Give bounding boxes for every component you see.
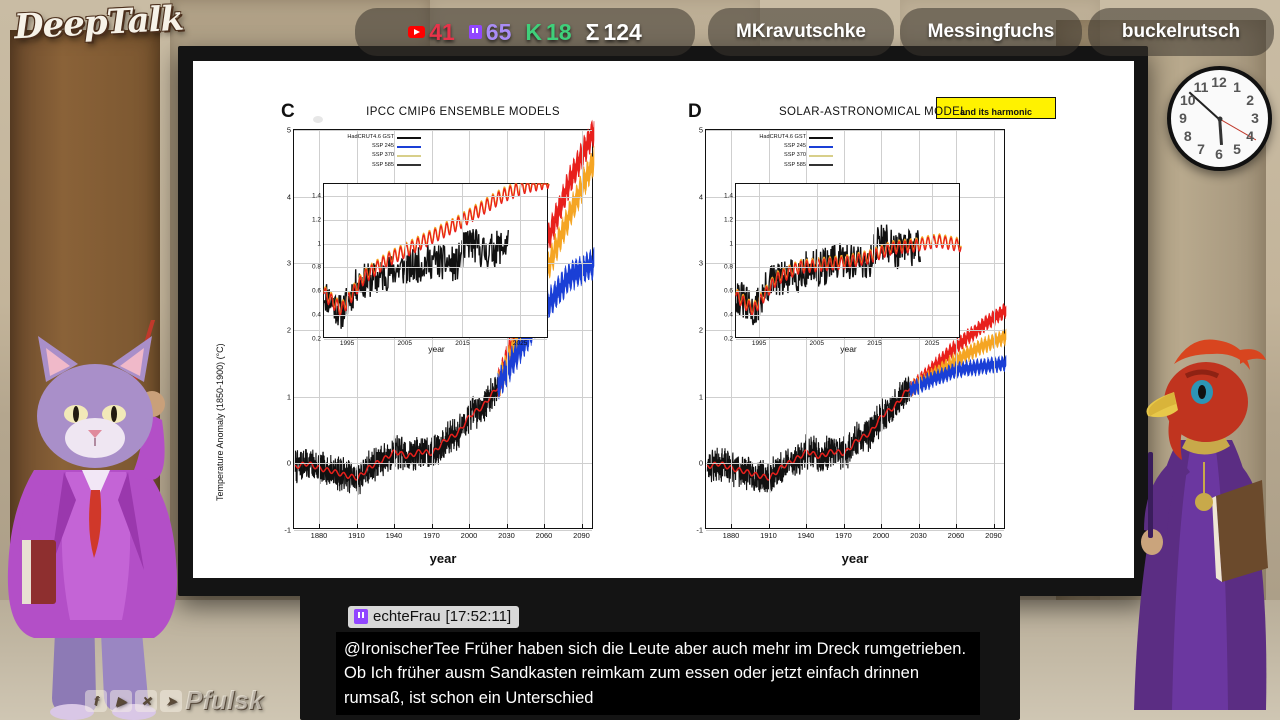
legend-swatch <box>809 155 833 157</box>
gridline <box>582 130 583 528</box>
projector-screen-frame: and its harmonic C IPCC CMIP6 ENSEMBLE M… <box>178 46 1148 596</box>
inset-gridline <box>324 339 547 340</box>
clock-numeral: 8 <box>1184 128 1192 144</box>
twitch-icon <box>469 25 482 39</box>
youtube-icon: ▶ <box>110 690 132 712</box>
twitch-badge-icon <box>354 609 368 624</box>
y-tick-label: 4 <box>699 192 706 201</box>
inset-gridline <box>736 267 959 268</box>
inset-gridline <box>736 220 959 221</box>
inset-y-tick-label: 0.8 <box>724 264 736 271</box>
y-tick-label: 4 <box>287 192 294 201</box>
chat-overlay: echteFrau [17:52:11] @IronischerTee Früh… <box>300 592 1020 720</box>
chat-timestamp: [17:52:11] <box>446 608 512 625</box>
legend-swatch <box>397 155 421 157</box>
inset-y-tick-label: 0.8 <box>312 264 324 271</box>
gridline <box>294 397 592 398</box>
inset-x-tick-label: 2005 <box>810 340 824 347</box>
axis-tick <box>432 524 433 528</box>
bird-mascot <box>1120 330 1280 720</box>
gridline <box>706 530 1004 531</box>
viewer-counters: 4165K18Σ124 <box>355 8 695 56</box>
inset-gridline <box>347 184 348 337</box>
inset-gridline <box>462 184 463 337</box>
x-tick-label: 1940 <box>798 531 815 540</box>
inset-gridline <box>736 315 959 316</box>
x-tick-label: 2000 <box>461 531 478 540</box>
legend-item: SSP 245 <box>713 142 833 151</box>
legend-item: SSP 585 <box>713 161 833 170</box>
inset-y-tick-label: 0.4 <box>724 312 736 319</box>
inset-gridline <box>405 184 406 337</box>
legend-label: HadCRUT4.6 GST <box>759 133 806 142</box>
clock-numeral: 6 <box>1215 146 1223 162</box>
x-tick-label: 1970 <box>835 531 852 540</box>
x-tick-label: 1910 <box>760 531 777 540</box>
gridline <box>706 463 1004 464</box>
legend-swatch <box>809 164 833 166</box>
gridline <box>706 397 1004 398</box>
inset-x-tick-label: 1995 <box>752 340 766 347</box>
wall-clock: 121234567891011 <box>1167 66 1272 171</box>
y-tick-label: 2 <box>287 326 294 335</box>
inset-y-tick-label: 1.4 <box>312 192 324 199</box>
axis-tick <box>544 524 545 528</box>
inset-x-tick-label: 2025 <box>925 340 939 347</box>
y-tick-label: 1 <box>699 392 706 401</box>
inset-x-tick-label: 2015 <box>867 340 881 347</box>
clock-center <box>1217 116 1222 121</box>
panel-c-inset: year 19952005201520250.20.40.60.811.21.4 <box>323 183 548 338</box>
legend-item: SSP 370 <box>301 151 421 160</box>
legend-label: SSP 585 <box>784 161 806 170</box>
gridline <box>294 463 592 464</box>
telegram-icon: ➤ <box>160 690 182 712</box>
axis-tick <box>881 524 882 528</box>
inset-gridline <box>759 184 760 337</box>
chart-panel-d: D SOLAR-ASTRONOMICAL MODEL 1880191019401… <box>663 61 1133 581</box>
series-hadcrut <box>295 377 497 495</box>
legend-label: HadCRUT4.6 GST <box>347 133 394 142</box>
counter-total: Σ124 <box>586 19 642 46</box>
projector-screen: and its harmonic C IPCC CMIP6 ENSEMBLE M… <box>193 61 1134 578</box>
viewer-chip-1[interactable]: Messingfuchs <box>900 8 1082 56</box>
inset-y-tick-label: 0.2 <box>724 336 736 343</box>
inset-gridline <box>736 244 959 245</box>
counter-value: 18 <box>546 19 572 46</box>
panel-d-title: SOLAR-ASTRONOMICAL MODEL <box>703 106 1043 118</box>
legend-swatch <box>809 137 833 139</box>
viewer-chip-0[interactable]: MKravutschke <box>708 8 894 56</box>
counter-value: 41 <box>429 19 455 46</box>
y-tick-label: 5 <box>699 126 706 135</box>
legend-item: SSP 370 <box>713 151 833 160</box>
inset-gridline <box>817 184 818 337</box>
clock-hour-hand <box>1218 118 1223 144</box>
x-tick-label: 2090 <box>573 531 590 540</box>
inset-y-tick-label: 0.4 <box>312 312 324 319</box>
x-tick-label: 1880 <box>311 531 328 540</box>
inset-y-tick-label: 1.2 <box>312 216 324 223</box>
inset-y-tick-label: 0.6 <box>312 288 324 295</box>
clock-numeral: 5 <box>1233 141 1241 157</box>
x-tick-label: 2030 <box>910 531 927 540</box>
y-tick-label: 0 <box>287 459 294 468</box>
x-tick-label: 2030 <box>498 531 515 540</box>
counter-twitch: 65 <box>469 19 512 46</box>
clock-numeral: 3 <box>1251 110 1259 126</box>
inset-y-tick-label: 0.6 <box>724 288 736 295</box>
counter-kick: K18 <box>525 19 571 46</box>
axis-tick <box>806 524 807 528</box>
inset-x-tick-label: 2025 <box>513 340 527 347</box>
clock-numeral: 9 <box>1179 110 1187 126</box>
chart-panel-c: C IPCC CMIP6 ENSEMBLE MODELS Temperature… <box>193 61 663 581</box>
axis-tick <box>507 524 508 528</box>
x-icon: ✕ <box>135 690 157 712</box>
x-tick-label: 2060 <box>536 531 553 540</box>
clock-numeral: 2 <box>1246 92 1254 108</box>
cat-mascot <box>0 320 194 720</box>
facebook-icon: f <box>85 690 107 712</box>
axis-tick <box>844 524 845 528</box>
chat-message: @IronischerTee Früher haben sich die Leu… <box>336 632 980 715</box>
inset-gridline <box>324 267 547 268</box>
inset-x-tick-label: 2015 <box>455 340 469 347</box>
legend-swatch <box>397 164 421 166</box>
axis-tick <box>769 524 770 528</box>
axis-tick <box>357 524 358 528</box>
x-tick-label: 1970 <box>423 531 440 540</box>
gridline <box>994 130 995 528</box>
axis-tick <box>994 524 995 528</box>
counter-value: 65 <box>486 19 512 46</box>
x-tick-label: 1880 <box>723 531 740 540</box>
panel-d-xlabel: year <box>705 551 1005 566</box>
panel-d-inset: year 19952005201520250.20.40.60.811.21.4 <box>735 183 960 338</box>
y-tick-label: 2 <box>699 326 706 335</box>
legend-label: SSP 585 <box>372 161 394 170</box>
inset-y-tick-label: 1 <box>317 240 324 247</box>
legend-item: HadCRUT4.6 GST <box>301 133 421 142</box>
y-tick-label: 1 <box>287 392 294 401</box>
x-tick-label: 2000 <box>873 531 890 540</box>
chat-author: echteFrau [17:52:11] <box>348 606 519 628</box>
gridline <box>706 130 1004 131</box>
inset-gridline <box>324 315 547 316</box>
inset-gridline <box>874 184 875 337</box>
inset-gridline <box>932 184 933 337</box>
gridline <box>294 530 592 531</box>
slide-figure: and its harmonic C IPCC CMIP6 ENSEMBLE M… <box>193 61 1134 578</box>
panel-d-letter: D <box>688 101 702 123</box>
inset-gridline <box>324 220 547 221</box>
inset-gridline <box>324 244 547 245</box>
legend-item: SSP 245 <box>301 142 421 151</box>
legend-label: SSP 370 <box>784 151 806 160</box>
social-watermark: f ▶ ✕ ➤ Pfulsk <box>85 685 263 716</box>
y-tick-label: -1 <box>284 526 294 535</box>
axis-tick <box>319 524 320 528</box>
x-tick-label: 2090 <box>985 531 1002 540</box>
legend-label: SSP 245 <box>784 142 806 151</box>
panel-c-ylabel: Temperature Anomaly (1850-1900) (°C) <box>215 343 225 501</box>
series-hadcrut <box>707 378 909 493</box>
kick-icon: K <box>525 19 542 46</box>
y-tick-label: 0 <box>699 459 706 468</box>
legend-item: HadCRUT4.6 GST <box>713 133 833 142</box>
legend-swatch <box>397 137 421 139</box>
sigma-icon: Σ <box>586 19 600 46</box>
viewer-chip-2[interactable]: buckelrutsch <box>1088 8 1274 56</box>
panel-d-legend: HadCRUT4.6 GSTSSP 245SSP 370SSP 585 <box>713 133 833 170</box>
inset-x-tick-label: 1995 <box>340 340 354 347</box>
x-tick-label: 1940 <box>386 531 403 540</box>
inset-y-tick-label: 0.2 <box>312 336 324 343</box>
clock-numeral: 1 <box>1233 79 1241 95</box>
y-tick-label: 3 <box>287 259 294 268</box>
panel-c-legend: HadCRUT4.6 GSTSSP 245SSP 370SSP 585 <box>301 133 421 170</box>
legend-item: SSP 585 <box>301 161 421 170</box>
clock-numeral: 7 <box>1197 141 1205 157</box>
panel-c-title: IPCC CMIP6 ENSEMBLE MODELS <box>293 106 633 118</box>
legend-swatch <box>397 146 421 148</box>
gridline <box>294 130 592 131</box>
y-tick-label: 5 <box>287 126 294 135</box>
panel-c-xlabel: year <box>293 551 593 566</box>
inset-y-tick-label: 1.4 <box>724 192 736 199</box>
legend-label: SSP 370 <box>372 151 394 160</box>
inset-gridline <box>736 196 959 197</box>
axis-tick <box>731 524 732 528</box>
x-tick-label: 2060 <box>948 531 965 540</box>
stream-top-bar: DeepTalk 4165K18Σ124 MKravutschke Messin… <box>0 0 1280 66</box>
gridline <box>731 130 732 528</box>
inset-gridline <box>324 291 547 292</box>
inset-y-tick-label: 1.2 <box>724 216 736 223</box>
clock-numeral: 11 <box>1194 79 1209 95</box>
clock-numeral: 4 <box>1246 128 1254 144</box>
counter-value: 124 <box>603 19 641 46</box>
y-tick-label: 3 <box>699 259 706 268</box>
inset-gridline <box>324 196 547 197</box>
inset-gridline <box>736 339 959 340</box>
inset-gridline <box>520 184 521 337</box>
x-tick-label: 1910 <box>348 531 365 540</box>
inset-gridline <box>736 291 959 292</box>
axis-tick <box>394 524 395 528</box>
axis-tick <box>956 524 957 528</box>
gridline <box>319 130 320 528</box>
axis-tick <box>469 524 470 528</box>
social-handle: Pfulsk <box>185 685 263 716</box>
legend-label: SSP 245 <box>372 142 394 151</box>
legend-swatch <box>809 146 833 148</box>
brand-logo: DeepTalk <box>13 0 184 47</box>
inset-y-tick-label: 1 <box>729 240 736 247</box>
axis-tick <box>582 524 583 528</box>
series-model-historical <box>295 388 497 480</box>
axis-tick <box>919 524 920 528</box>
y-tick-label: -1 <box>696 526 706 535</box>
inset-observations <box>736 225 920 325</box>
chat-username: echteFrau <box>373 608 441 625</box>
counter-youtube: 41 <box>408 19 455 46</box>
youtube-icon <box>408 26 425 38</box>
inset-x-tick-label: 2005 <box>398 340 412 347</box>
clock-numeral: 12 <box>1211 74 1227 90</box>
